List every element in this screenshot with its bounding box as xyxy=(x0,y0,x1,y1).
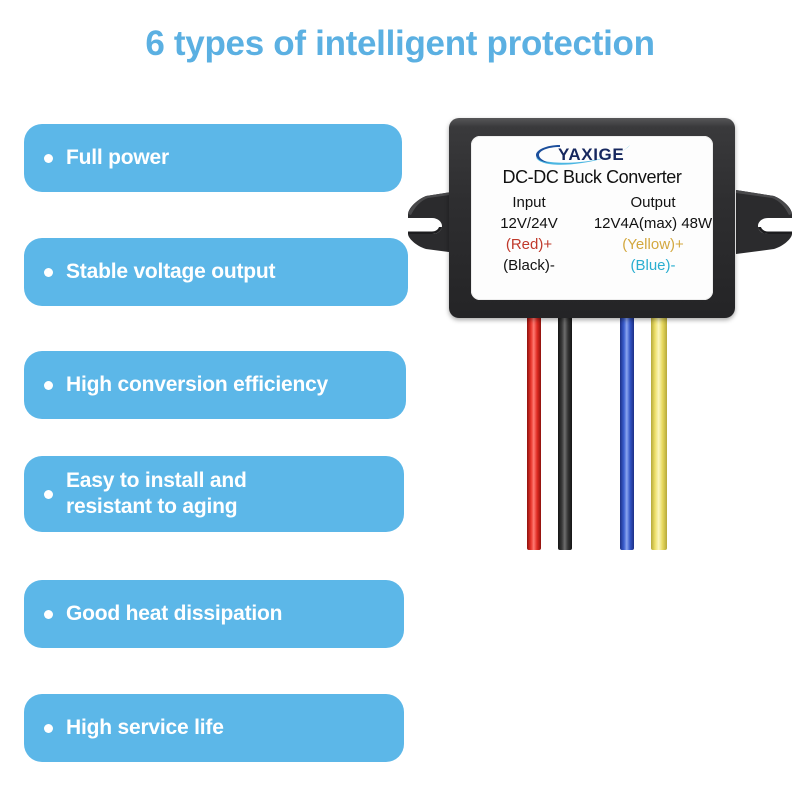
page-title: 6 types of intelligent protection xyxy=(0,24,800,64)
bullet-icon xyxy=(44,610,53,619)
red-wire xyxy=(527,305,541,550)
bullet-icon xyxy=(44,724,53,733)
yaxige-logo-icon: YAXIGE xyxy=(530,142,654,166)
spec-table: Input 12V/24V (Red)+ (Black)- Output 12V… xyxy=(471,192,713,276)
feature-pill-good-heat-dissipation: Good heat dissipation xyxy=(24,580,404,648)
bullet-icon xyxy=(44,381,53,390)
feature-label: High service life xyxy=(66,715,224,741)
feature-pill-stable-voltage-output: Stable voltage output xyxy=(24,238,408,306)
output-spec-column: Output 12V4A(max) 48W (Yellow)+ (Blue)- xyxy=(591,192,713,276)
brand-logo: YAXIGE xyxy=(471,142,713,166)
input-positive: (Red)+ xyxy=(471,234,591,255)
product-label: YAXIGE DC-DC Buck Converter Input 12V/24… xyxy=(471,136,713,300)
feature-label: Full power xyxy=(66,145,169,171)
feature-pill-high-conversion-efficiency: High conversion efficiency xyxy=(24,351,406,419)
feature-label: Good heat dissipation xyxy=(66,601,282,627)
bullet-icon xyxy=(44,154,53,163)
product-image-dc-dc-buck-converter: YAXIGE DC-DC Buck Converter Input 12V/24… xyxy=(400,100,800,360)
mounting-tab-right xyxy=(736,188,792,256)
bullet-icon xyxy=(44,268,53,277)
feature-pill-easy-install-aging: Easy to install and resistant to aging xyxy=(24,456,404,532)
input-value: 12V/24V xyxy=(471,213,591,234)
feature-label: Easy to install and resistant to aging xyxy=(66,468,247,520)
feature-label: High conversion efficiency xyxy=(66,372,328,398)
input-negative: (Black)- xyxy=(471,255,591,276)
yellow-wire xyxy=(651,305,667,550)
output-negative: (Blue)- xyxy=(591,255,713,276)
output-value: 12V4A(max) 48W xyxy=(591,213,713,234)
blue-wire xyxy=(620,305,634,550)
black-wire xyxy=(558,305,572,550)
bullet-icon xyxy=(44,490,53,499)
output-heading: Output xyxy=(591,192,713,213)
feature-label: Stable voltage output xyxy=(66,259,275,285)
output-positive: (Yellow)+ xyxy=(591,234,713,255)
product-name: DC-DC Buck Converter xyxy=(471,167,713,188)
feature-pill-high-service-life: High service life xyxy=(24,694,404,762)
infographic-canvas: 6 types of intelligent protection Full p… xyxy=(0,0,800,800)
feature-pill-full-power: Full power xyxy=(24,124,402,192)
input-spec-column: Input 12V/24V (Red)+ (Black)- xyxy=(471,192,591,276)
input-heading: Input xyxy=(471,192,591,213)
svg-text:YAXIGE: YAXIGE xyxy=(558,145,624,164)
